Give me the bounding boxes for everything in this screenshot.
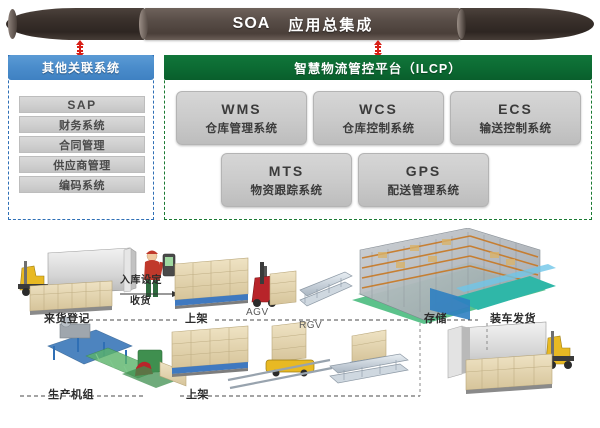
module-code: MTS: [269, 163, 305, 179]
production-line-group: [48, 317, 186, 388]
soa-title-cjk: 应用总集成: [288, 14, 373, 35]
inline-label-inbound-setup: 入库设定: [120, 271, 162, 286]
list-item[interactable]: 财务系统: [19, 116, 145, 133]
inline-label-goods-receipt: 收货: [130, 292, 151, 307]
equipment-tag-rgv: RGV: [299, 320, 322, 331]
conveyor-group-2: [330, 330, 408, 383]
module-name: 仓库控制系统: [343, 120, 415, 136]
flow-label-storage: 存储: [424, 310, 447, 326]
stored-pallet-group-2: [172, 326, 248, 377]
module-card-gps[interactable]: GPS 配送管理系统: [358, 153, 489, 207]
soa-bar-right-segment: [458, 8, 594, 40]
soa-title-latin: SOA: [233, 15, 271, 33]
agv-stacker-group: [252, 262, 296, 307]
related-systems-list: SAP 财务系统 合同管理 供应商管理 编码系统: [19, 96, 145, 193]
ilcp-platform-header: 智慧物流管控平台（ILCP）: [164, 55, 592, 80]
module-card-ecs[interactable]: ECS 输送控制系统: [450, 91, 581, 145]
flow-label-putaway-1: 上架: [185, 310, 208, 326]
related-systems-header: 其他关联系统: [8, 55, 154, 80]
soa-integration-bar: SOA 应用总集成: [6, 8, 594, 40]
soa-bar-title: SOA 应用总集成: [142, 8, 464, 40]
module-code: WCS: [359, 101, 398, 117]
module-name: 输送控制系统: [480, 120, 552, 136]
related-systems-panel: 其他关联系统 SAP 财务系统 合同管理 供应商管理 编码系统: [8, 55, 154, 220]
equipment-tag-agv: AGV: [246, 307, 269, 318]
module-card-wcs[interactable]: WCS 仓库控制系统: [313, 91, 444, 145]
module-code: WMS: [221, 101, 261, 117]
flow-label-receiving: 来货登记: [44, 310, 90, 326]
list-item[interactable]: 供应商管理: [19, 156, 145, 173]
soa-bar-end-cap-left: [8, 9, 17, 39]
module-code: GPS: [406, 163, 442, 179]
flow-label-shipping: 装车发货: [490, 310, 536, 326]
flow-label-production: 生产机组: [48, 386, 94, 402]
ilcp-platform-panel: 智慧物流管控平台（ILCP） WMS 仓库管理系统 WCS 仓库控制系统 ECS…: [164, 55, 592, 220]
stored-pallet-group-1: [175, 258, 248, 309]
flow-label-putaway-2: 上架: [186, 386, 209, 402]
conveyor-group-1: [300, 272, 352, 306]
module-name: 配送管理系统: [388, 182, 460, 198]
list-item[interactable]: 合同管理: [19, 136, 145, 153]
diagram-root: SOA 应用总集成 其他关联系统 SAP 财务系统 合同管理 供应商管理 编码系…: [0, 0, 600, 428]
module-card-mts[interactable]: MTS 物资跟踪系统: [221, 153, 352, 207]
receiving-truck-group: [18, 248, 136, 315]
soa-bar-left-segment: [6, 8, 146, 40]
list-item[interactable]: 编码系统: [19, 176, 145, 193]
module-code: ECS: [498, 101, 533, 117]
logistics-process-illustration: 来货登记 上架 存储 装车发货 生产机组 上架 入库设定 收货 AGV RGV: [0, 228, 600, 428]
list-item[interactable]: SAP: [19, 96, 145, 113]
module-row-primary: WMS 仓库管理系统 WCS 仓库控制系统 ECS 输送控制系统: [176, 91, 581, 145]
module-name: 物资跟踪系统: [251, 182, 323, 198]
module-name: 仓库管理系统: [206, 120, 278, 136]
shipping-truck-group: [448, 322, 574, 394]
module-row-secondary: MTS 物资跟踪系统 GPS 配送管理系统: [221, 153, 489, 207]
module-card-wms[interactable]: WMS 仓库管理系统: [176, 91, 307, 145]
